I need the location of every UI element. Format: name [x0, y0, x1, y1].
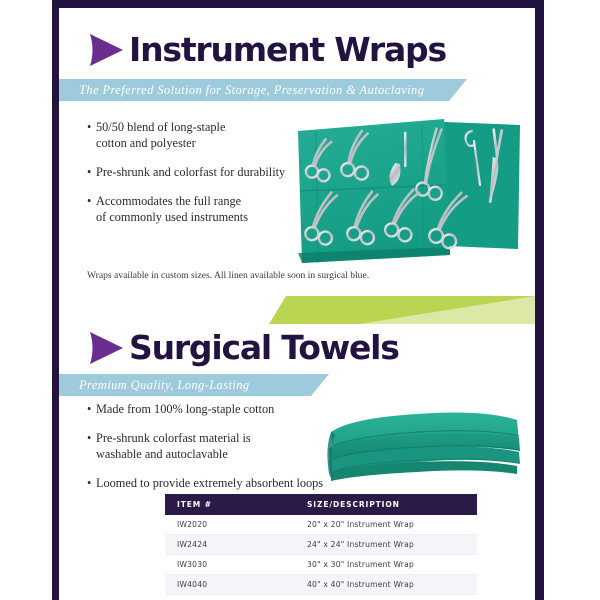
product-photo-surgical-towels [317, 398, 531, 488]
tagline-text: Premium Quality, Long-Lasting [79, 378, 250, 393]
cell-size-description: 20" x 20" Instrument Wrap [295, 515, 477, 535]
section-title: Instrument Wraps [129, 30, 446, 69]
table-row: IW4040 40" x 40" Instrument Wrap [165, 575, 477, 595]
product-table: ITEM # SIZE/DESCRIPTION IW2020 20" x 20"… [165, 494, 477, 600]
bullet-dot: • [87, 165, 96, 181]
cell-item-number: IW4040 [165, 575, 295, 595]
tagline-banner-instrument-wraps: The Preferred Solution for Storage, Pres… [59, 79, 467, 101]
catalog-page: Instrument Wraps The Preferred Solution … [0, 0, 600, 600]
availability-note: Wraps available in custom sizes. All lin… [87, 270, 369, 281]
cell-item-number: IW3030 [165, 555, 295, 575]
table-header-row: ITEM # SIZE/DESCRIPTION [165, 494, 477, 515]
list-item-text: Pre-shrunk and colorfast for durability [96, 165, 285, 181]
table-row: IW2020 20" x 20" Instrument Wrap [165, 515, 477, 535]
green-chevron-shapes [59, 294, 535, 330]
page-border-top [52, 0, 544, 8]
page-border-right [535, 0, 544, 600]
list-item: • Made from 100% long-staple cotton [87, 402, 337, 418]
list-item: • Pre-shrunk colorfast material is washa… [87, 431, 337, 463]
list-item: • Pre-shrunk and colorfast for durabilit… [87, 165, 302, 181]
cell-size-description: 24" x 24" Instrument Wrap [295, 535, 477, 555]
feature-list-surgical-towels: • Made from 100% long-staple cotton • Pr… [87, 402, 337, 505]
list-item: • Loomed to provide extremely absorbent … [87, 476, 337, 492]
feature-list-instrument-wraps: • 50/50 blend of long-staple cotton and … [87, 120, 302, 239]
list-item-text: Loomed to provide extremely absorbent lo… [96, 476, 323, 492]
cell-item-number: ST1833 [165, 595, 295, 600]
cell-item-number: IW2020 [165, 515, 295, 535]
product-photo-instrument-wraps [292, 113, 524, 265]
section-heading-instrument-wraps: Instrument Wraps [87, 30, 446, 69]
bullet-dot: • [87, 120, 96, 152]
bullet-dot: • [87, 402, 96, 418]
bullet-dot: • [87, 431, 96, 463]
page-border-left [52, 0, 59, 600]
list-item-text: Pre-shrunk colorfast material is washabl… [96, 431, 251, 463]
list-item: • 50/50 blend of long-staple cotton and … [87, 120, 302, 152]
tagline-text: The Preferred Solution for Storage, Pres… [79, 83, 424, 98]
bullet-dot: • [87, 194, 96, 226]
list-item-text: Made from 100% long-staple cotton [96, 402, 274, 418]
cell-item-number: IW2424 [165, 535, 295, 555]
table-row: IW3030 30" x 30" Instrument Wrap [165, 555, 477, 575]
list-item: • Accommodates the full range of commonl… [87, 194, 302, 226]
column-header-size: SIZE/DESCRIPTION [295, 494, 477, 515]
page-sheet: Instrument Wraps The Preferred Solution … [59, 8, 535, 600]
tagline-banner-surgical-towels: Premium Quality, Long-Lasting [59, 374, 329, 396]
list-item-text: 50/50 blend of long-staple cotton and po… [96, 120, 225, 152]
column-header-item: ITEM # [165, 494, 295, 515]
play-triangle-icon [87, 330, 125, 366]
green-divider [59, 294, 535, 330]
cell-size-description: 40" x 40" Instrument Wrap [295, 575, 477, 595]
section-title: Surgical Towels [129, 328, 399, 367]
cell-size-description: 18" x 33" Surgical Towel [295, 595, 477, 600]
cell-size-description: 30" x 30" Instrument Wrap [295, 555, 477, 575]
bullet-dot: • [87, 476, 96, 492]
table-row: IW2424 24" x 24" Instrument Wrap [165, 535, 477, 555]
list-item-text: Accommodates the full range of commonly … [96, 194, 248, 226]
table-row: ST1833 18" x 33" Surgical Towel [165, 595, 477, 600]
play-triangle-icon [87, 32, 125, 68]
section-heading-surgical-towels: Surgical Towels [87, 328, 399, 367]
